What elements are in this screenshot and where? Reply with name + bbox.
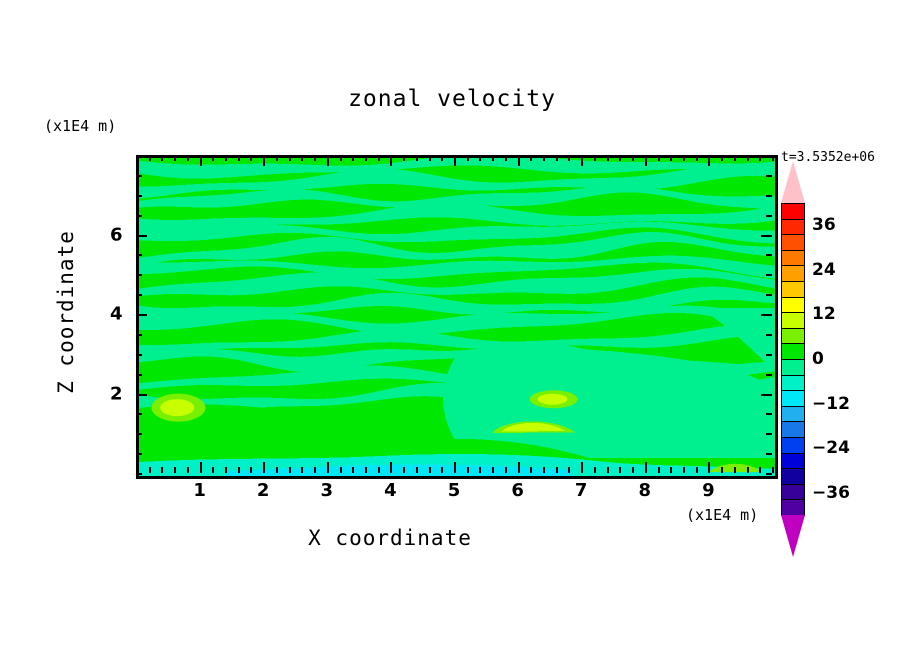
- x-major-tick-top: [390, 155, 392, 166]
- colorbar-cap-top: [781, 161, 805, 203]
- x-minor-tick: [594, 467, 596, 473]
- y-minor-tick-right: [766, 294, 772, 296]
- x-minor-tick-top: [619, 155, 621, 161]
- colorbar-tick-label: −36: [812, 483, 850, 503]
- x-minor-tick: [365, 467, 367, 473]
- x-minor-tick-top: [530, 155, 532, 161]
- x-minor-tick-top: [696, 155, 698, 161]
- x-minor-tick: [543, 467, 545, 473]
- plot-area: [136, 155, 778, 479]
- y-minor-tick: [136, 215, 142, 217]
- x-major-tick: [645, 462, 647, 473]
- x-minor-tick: [479, 467, 481, 473]
- x-minor-tick: [416, 467, 418, 473]
- x-minor-tick: [632, 467, 634, 473]
- colorbar-band: [781, 219, 805, 236]
- x-minor-tick-top: [721, 155, 723, 161]
- time-annotation: t=3.5352e+06: [781, 150, 875, 165]
- colorbar-band: [781, 437, 805, 454]
- x-minor-tick: [734, 467, 736, 473]
- colorbar-band: [781, 359, 805, 376]
- x-minor-tick: [225, 467, 227, 473]
- y-minor-tick: [136, 473, 142, 475]
- x-major-tick-top: [327, 155, 329, 166]
- colorbar-band: [781, 234, 805, 251]
- x-minor-tick-top: [314, 155, 316, 161]
- x-minor-tick: [340, 467, 342, 473]
- x-major-tick: [263, 462, 265, 473]
- x-minor-tick: [187, 467, 189, 473]
- x-minor-tick-top: [212, 155, 214, 161]
- x-minor-tick: [670, 467, 672, 473]
- x-minor-tick: [759, 467, 761, 473]
- y-minor-tick-right: [766, 354, 772, 356]
- colorbar-band: [781, 375, 805, 392]
- y-minor-tick-right: [766, 254, 772, 256]
- y-minor-tick: [136, 175, 142, 177]
- colorbar-band: [781, 250, 805, 267]
- colorbar-band: [781, 484, 805, 501]
- x-minor-tick: [492, 467, 494, 473]
- y-minor-tick-right: [766, 453, 772, 455]
- x-tick-label: 6: [511, 480, 524, 501]
- y-major-tick-right: [761, 314, 772, 316]
- x-minor-tick: [212, 467, 214, 473]
- x-major-tick-top: [454, 155, 456, 166]
- chart-root: zonal velocity (x1E4 m) (x1E4 m) t=3.535…: [0, 0, 904, 654]
- x-major-tick-top: [708, 155, 710, 166]
- x-minor-tick: [289, 467, 291, 473]
- colorbar-band: [781, 406, 805, 423]
- x-minor-tick-top: [378, 155, 380, 161]
- x-minor-tick: [530, 467, 532, 473]
- x-major-tick: [454, 462, 456, 473]
- y-minor-tick: [136, 433, 142, 435]
- y-minor-tick-right: [766, 195, 772, 197]
- x-minor-tick: [301, 467, 303, 473]
- x-tick-label: 9: [702, 480, 715, 501]
- colorbar-band: [781, 312, 805, 329]
- x-major-tick: [581, 462, 583, 473]
- x-minor-tick: [403, 467, 405, 473]
- x-minor-tick: [683, 467, 685, 473]
- x-minor-tick-top: [416, 155, 418, 161]
- x-minor-tick-top: [441, 155, 443, 161]
- contour-field: [139, 158, 775, 476]
- x-minor-tick: [161, 467, 163, 473]
- colorbar-band: [781, 203, 805, 220]
- x-minor-tick-top: [683, 155, 685, 161]
- x-minor-tick: [772, 467, 774, 473]
- x-minor-tick-top: [429, 155, 431, 161]
- x-minor-tick-top: [250, 155, 252, 161]
- y-minor-tick: [136, 453, 142, 455]
- y-minor-tick: [136, 413, 142, 415]
- x-minor-tick: [607, 467, 609, 473]
- x-minor-tick-top: [734, 155, 736, 161]
- x-major-tick-top: [581, 155, 583, 166]
- y-minor-tick: [136, 374, 142, 376]
- x-major-tick: [518, 462, 520, 473]
- x-minor-tick: [352, 467, 354, 473]
- x-minor-tick-top: [479, 155, 481, 161]
- x-minor-tick-top: [289, 155, 291, 161]
- x-minor-tick: [467, 467, 469, 473]
- x-major-tick-top: [518, 155, 520, 166]
- x-minor-tick-top: [772, 155, 774, 161]
- x-major-tick: [390, 462, 392, 473]
- x-minor-tick: [747, 467, 749, 473]
- x-minor-tick: [250, 467, 252, 473]
- x-minor-tick-top: [403, 155, 405, 161]
- y-major-tick: [136, 235, 147, 237]
- x-minor-tick: [568, 467, 570, 473]
- x-minor-tick: [314, 467, 316, 473]
- y-minor-tick-right: [766, 175, 772, 177]
- x-major-tick-top: [645, 155, 647, 166]
- x-minor-tick: [174, 467, 176, 473]
- x-minor-tick-top: [301, 155, 303, 161]
- y-minor-tick: [136, 274, 142, 276]
- x-major-tick-top: [263, 155, 265, 166]
- x-major-tick: [708, 462, 710, 473]
- y-axis-title: Z coordinate: [54, 222, 78, 402]
- y-minor-tick-right: [766, 433, 772, 435]
- x-minor-tick-top: [505, 155, 507, 161]
- colorbar-tick-label: 36: [812, 215, 836, 235]
- x-minor-tick: [658, 467, 660, 473]
- colorbar-tick-label: 0: [812, 349, 824, 369]
- x-minor-tick-top: [161, 155, 163, 161]
- colorbar-band: [781, 421, 805, 438]
- x-minor-tick: [378, 467, 380, 473]
- x-minor-tick-top: [174, 155, 176, 161]
- colorbar-tick-label: −24: [812, 438, 850, 458]
- x-minor-tick-top: [568, 155, 570, 161]
- x-minor-tick-top: [632, 155, 634, 161]
- y-minor-tick-right: [766, 334, 772, 336]
- colorbar-band: [781, 297, 805, 314]
- y-tick-label: 6: [110, 224, 123, 245]
- colorbar-band: [781, 468, 805, 485]
- colorbar: [781, 203, 805, 515]
- colorbar-cap-bottom: [781, 515, 805, 557]
- y-minor-tick-right: [766, 473, 772, 475]
- x-minor-tick: [696, 467, 698, 473]
- x-tick-label: 4: [384, 480, 397, 501]
- x-axis-title: X coordinate: [0, 526, 780, 550]
- y-minor-tick: [136, 334, 142, 336]
- y-major-tick: [136, 394, 147, 396]
- x-tick-label: 2: [257, 480, 270, 501]
- y-minor-tick-right: [766, 374, 772, 376]
- y-minor-tick-right: [766, 155, 772, 157]
- colorbar-band: [781, 265, 805, 282]
- x-tick-label: 5: [448, 480, 461, 501]
- x-minor-tick: [149, 467, 151, 473]
- y-minor-tick: [136, 294, 142, 296]
- x-minor-tick-top: [276, 155, 278, 161]
- x-minor-tick-top: [187, 155, 189, 161]
- x-minor-tick: [505, 467, 507, 473]
- x-minor-tick: [238, 467, 240, 473]
- chart-title: zonal velocity: [0, 86, 904, 112]
- x-minor-tick: [556, 467, 558, 473]
- x-major-tick: [327, 462, 329, 473]
- x-minor-tick-top: [607, 155, 609, 161]
- x-minor-tick-top: [658, 155, 660, 161]
- y-minor-tick: [136, 254, 142, 256]
- x-minor-tick-top: [149, 155, 151, 161]
- x-minor-tick: [619, 467, 621, 473]
- x-minor-tick: [441, 467, 443, 473]
- colorbar-tick-label: −12: [812, 394, 850, 414]
- y-tick-label: 4: [110, 304, 123, 325]
- colorbar-band: [781, 328, 805, 345]
- x-axis-unit-label: (x1E4 m): [686, 506, 758, 524]
- y-major-tick-right: [761, 235, 772, 237]
- x-minor-tick-top: [594, 155, 596, 161]
- x-minor-tick-top: [365, 155, 367, 161]
- x-major-tick: [200, 462, 202, 473]
- x-tick-label: 7: [575, 480, 588, 501]
- x-major-tick-top: [200, 155, 202, 166]
- y-minor-tick: [136, 195, 142, 197]
- colorbar-band: [781, 390, 805, 407]
- x-minor-tick-top: [467, 155, 469, 161]
- x-minor-tick-top: [225, 155, 227, 161]
- x-tick-label: 8: [639, 480, 652, 501]
- y-major-tick-right: [761, 394, 772, 396]
- x-minor-tick-top: [556, 155, 558, 161]
- colorbar-band: [781, 343, 805, 360]
- x-minor-tick-top: [352, 155, 354, 161]
- y-minor-tick-right: [766, 274, 772, 276]
- y-minor-tick: [136, 354, 142, 356]
- x-tick-label: 1: [193, 480, 206, 501]
- x-minor-tick: [276, 467, 278, 473]
- y-tick-label: 2: [110, 383, 123, 404]
- x-minor-tick: [721, 467, 723, 473]
- colorbar-band: [781, 453, 805, 470]
- colorbar-band: [781, 499, 805, 516]
- y-minor-tick-right: [766, 215, 772, 217]
- x-minor-tick-top: [238, 155, 240, 161]
- y-axis-unit-label: (x1E4 m): [44, 117, 116, 135]
- x-minor-tick-top: [759, 155, 761, 161]
- x-minor-tick-top: [340, 155, 342, 161]
- x-minor-tick: [429, 467, 431, 473]
- colorbar-tick-label: 24: [812, 260, 836, 280]
- colorbar-tick-label: 12: [812, 304, 836, 324]
- y-minor-tick-right: [766, 413, 772, 415]
- x-minor-tick-top: [492, 155, 494, 161]
- x-minor-tick-top: [670, 155, 672, 161]
- colorbar-band: [781, 281, 805, 298]
- x-tick-label: 3: [321, 480, 334, 501]
- x-minor-tick-top: [747, 155, 749, 161]
- y-minor-tick: [136, 155, 142, 157]
- x-minor-tick-top: [543, 155, 545, 161]
- y-major-tick: [136, 314, 147, 316]
